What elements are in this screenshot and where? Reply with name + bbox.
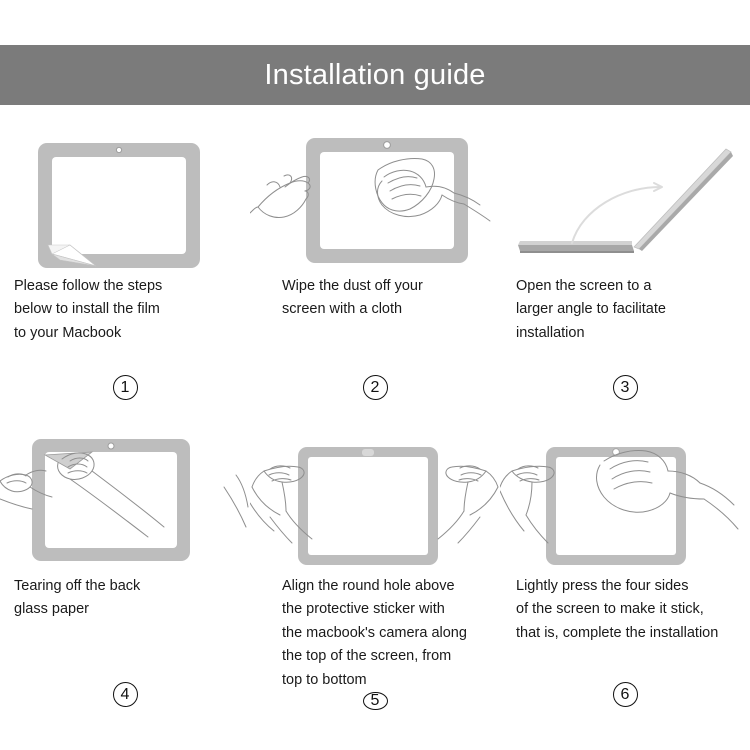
caption-line: the macbook's camera along — [282, 622, 486, 645]
step-number-badge-1: 1 — [113, 375, 138, 400]
caption-line: Tearing off the back — [14, 575, 218, 598]
caption-line: Align the round hole above — [282, 575, 486, 598]
caption-line: Lightly press the four sides — [516, 575, 746, 598]
caption-line: of the screen to make it stick, — [516, 598, 746, 621]
caption-line: the top of the screen, from — [282, 645, 486, 668]
steps-row-bottom: Tearing off the back glass paper 4 — [0, 425, 750, 745]
caption-line: Please follow the steps — [14, 275, 218, 298]
caption-line: to your Macbook — [14, 322, 218, 345]
caption-line: screen with a cloth — [282, 298, 486, 321]
caption-line: that is, complete the installation — [516, 622, 746, 645]
step-4-illustration — [0, 425, 250, 575]
step-card-2: Wipe the dust off your screen with a clo… — [250, 125, 500, 425]
step-1-caption: Please follow the steps below to install… — [14, 275, 218, 345]
steps-row-top: Please follow the steps below to install… — [0, 125, 750, 425]
caption-line: Open the screen to a — [516, 275, 746, 298]
installation-guide-page: Installation guide — [0, 0, 750, 750]
step-card-3: Open the screen to a larger angle to fac… — [500, 125, 750, 425]
step-number-badge-6: 6 — [613, 682, 638, 707]
caption-line: Wipe the dust off your — [282, 275, 486, 298]
step-5-illustration — [250, 425, 500, 575]
step-number-badge-5: 5 — [363, 692, 388, 710]
step-number-badge-3: 3 — [613, 375, 638, 400]
step-4-caption: Tearing off the back glass paper — [14, 575, 218, 622]
caption-line: below to install the film — [14, 298, 218, 321]
step-3-caption: Open the screen to a larger angle to fac… — [516, 275, 746, 345]
step-card-4: Tearing off the back glass paper 4 — [0, 425, 250, 745]
step-number-badge-4: 4 — [113, 682, 138, 707]
caption-line: the protective sticker with — [282, 598, 486, 621]
step-card-1: Please follow the steps below to install… — [0, 125, 250, 425]
header-bar: Installation guide — [0, 45, 750, 105]
step-6-caption: Lightly press the four sides of the scre… — [516, 575, 746, 645]
caption-line: top to bottom — [282, 669, 486, 692]
page-title: Installation guide — [264, 61, 485, 90]
step-3-illustration — [500, 125, 750, 275]
step-6-illustration — [500, 425, 750, 575]
step-number-badge-2: 2 — [363, 375, 388, 400]
caption-line: glass paper — [14, 598, 218, 621]
step-card-6: Lightly press the four sides of the scre… — [500, 425, 750, 745]
step-card-5: Align the round hole above the protectiv… — [250, 425, 500, 745]
step-2-caption: Wipe the dust off your screen with a clo… — [282, 275, 486, 322]
step-1-illustration — [0, 125, 250, 275]
step-5-caption: Align the round hole above the protectiv… — [282, 575, 486, 692]
step-2-illustration — [250, 125, 500, 275]
caption-line: installation — [516, 322, 746, 345]
steps-grid: Please follow the steps below to install… — [0, 125, 750, 745]
caption-line: larger angle to facilitate — [516, 298, 746, 321]
